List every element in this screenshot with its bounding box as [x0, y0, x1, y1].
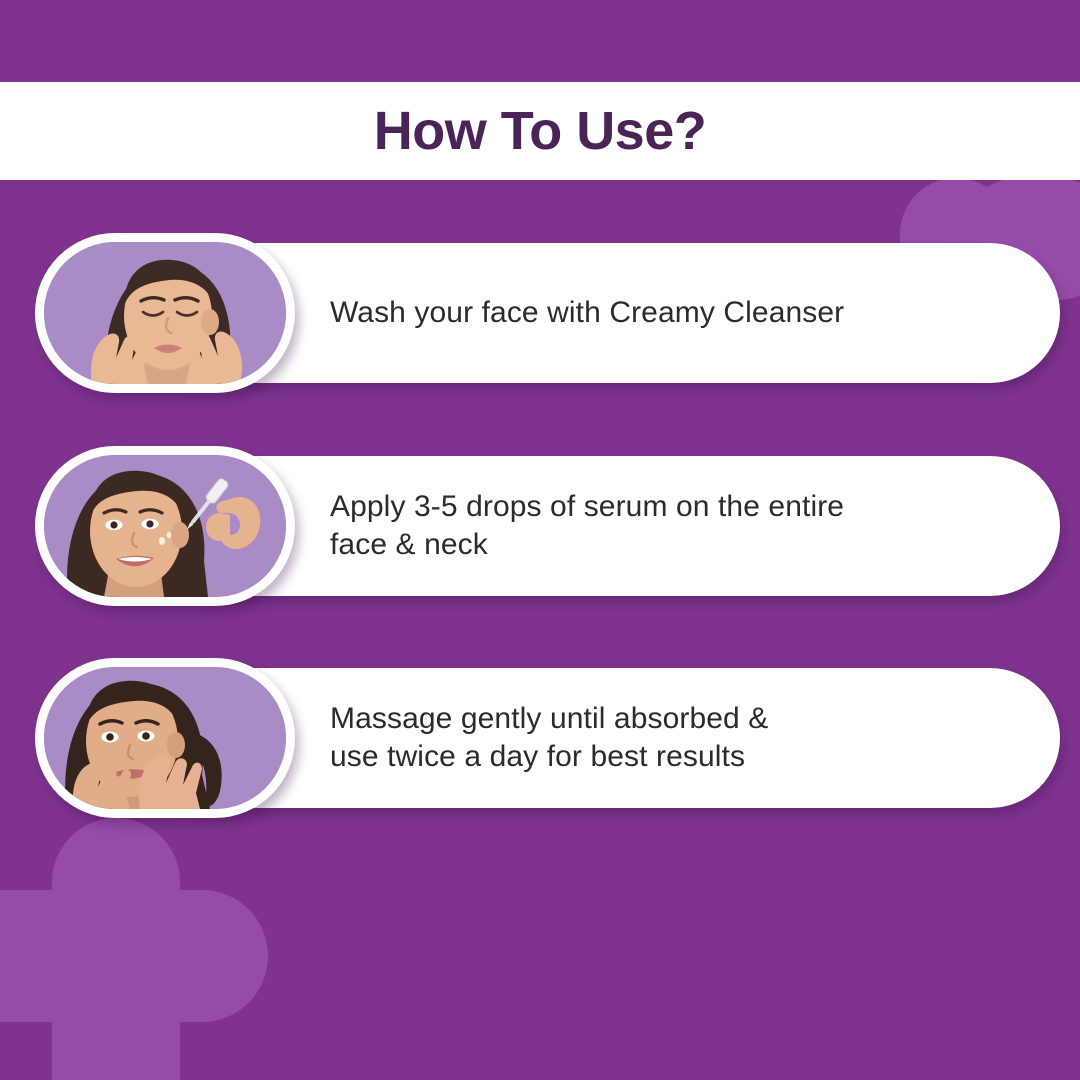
step-thumbnail-image — [44, 455, 286, 597]
step-thumbnail — [35, 446, 295, 606]
list-item: Wash your face with Creamy Cleanser — [0, 233, 1080, 393]
step-text-line-1: Massage gently until absorbed & — [330, 700, 1010, 738]
woman-massaging-face-photo — [44, 667, 286, 809]
how-to-use-infographic: How To Use? Wash your face with Creamy C… — [0, 0, 1080, 1080]
step-text-line-2: use twice a day for best results — [330, 738, 1010, 776]
step-thumbnail — [35, 658, 295, 818]
step-text: Apply 3-5 drops of serum on the entire f… — [330, 456, 1010, 596]
step-text-line-1: Wash your face with Creamy Cleanser — [330, 294, 1010, 332]
step-thumbnail-image — [44, 242, 286, 384]
steps-list: Wash your face with Creamy Cleanser — [0, 0, 1080, 1080]
woman-washing-face-photo — [44, 242, 286, 384]
step-thumbnail-image — [44, 667, 286, 809]
step-thumbnail — [35, 233, 295, 393]
woman-applying-serum-dropper-photo — [44, 455, 286, 597]
step-text-line-2: face & neck — [330, 526, 1010, 564]
step-text-line-1: Apply 3-5 drops of serum on the entire — [330, 488, 1010, 526]
step-text: Wash your face with Creamy Cleanser — [330, 243, 1010, 383]
step-text: Massage gently until absorbed & use twic… — [330, 668, 1010, 808]
list-item: Apply 3-5 drops of serum on the entire f… — [0, 446, 1080, 606]
list-item: Massage gently until absorbed & use twic… — [0, 658, 1080, 818]
